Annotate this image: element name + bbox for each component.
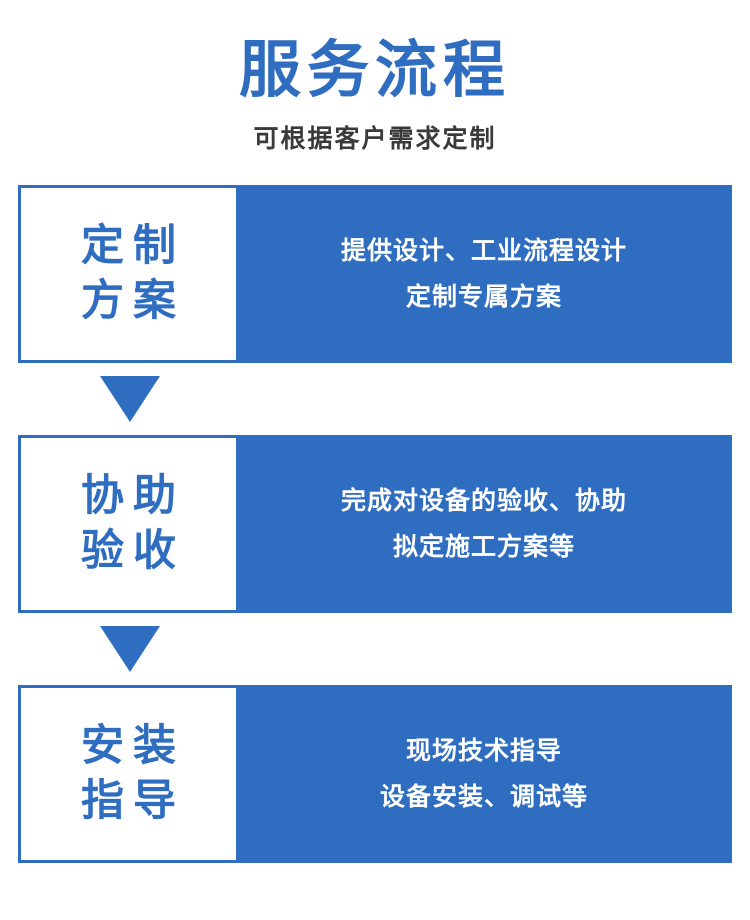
flow-step-3-desc-line1: 现场技术指导 <box>406 728 562 774</box>
flow-step-2: 协助 验收 完成对设备的验收、协助 拟定施工方案等 <box>18 435 732 613</box>
flow-step-2-desc-line2: 拟定施工方案等 <box>393 524 575 570</box>
flow-step-1: 定制 方案 提供设计、工业流程设计 定制专属方案 <box>18 185 732 363</box>
flow-step-2-desc-line1: 完成对设备的验收、协助 <box>341 478 627 524</box>
flow-step-3-label-line2: 指导 <box>72 774 185 829</box>
service-process-infographic: 服务流程 可根据客户需求定制 定制 方案 提供设计、工业流程设计 定制专属方案 … <box>0 0 750 920</box>
flow-step-2-label: 协助 验收 <box>21 438 239 610</box>
flow-step-3-desc-line2: 设备安装、调试等 <box>380 774 588 820</box>
page-subtitle: 可根据客户需求定制 <box>0 119 750 155</box>
flow-connector-1 <box>18 363 732 435</box>
arrow-down-icon <box>100 626 160 672</box>
flow-step-3-label: 安装 指导 <box>21 688 239 860</box>
flow-step-3-description: 现场技术指导 设备安装、调试等 <box>239 688 729 860</box>
flow-step-3-label-line1: 安装 <box>72 719 185 774</box>
page-title: 服务流程 <box>0 38 750 105</box>
arrow-down-icon <box>100 376 160 422</box>
flow-step-2-label-line2: 验收 <box>72 524 185 579</box>
flow-step-1-description: 提供设计、工业流程设计 定制专属方案 <box>239 188 729 360</box>
header: 服务流程 可根据客户需求定制 <box>0 0 750 155</box>
flow-step-3: 安装 指导 现场技术指导 设备安装、调试等 <box>18 685 732 863</box>
flow-diagram: 定制 方案 提供设计、工业流程设计 定制专属方案 协助 验收 完成对设备的验收、… <box>0 185 750 863</box>
flow-step-1-desc-line1: 提供设计、工业流程设计 <box>341 228 627 274</box>
flow-connector-2 <box>18 613 732 685</box>
flow-step-1-label-line2: 方案 <box>72 274 185 329</box>
flow-step-2-description: 完成对设备的验收、协助 拟定施工方案等 <box>239 438 729 610</box>
flow-step-1-desc-line2: 定制专属方案 <box>406 274 562 320</box>
flow-step-2-label-line1: 协助 <box>72 469 185 524</box>
flow-step-1-label: 定制 方案 <box>21 188 239 360</box>
flow-step-1-label-line1: 定制 <box>72 219 185 274</box>
